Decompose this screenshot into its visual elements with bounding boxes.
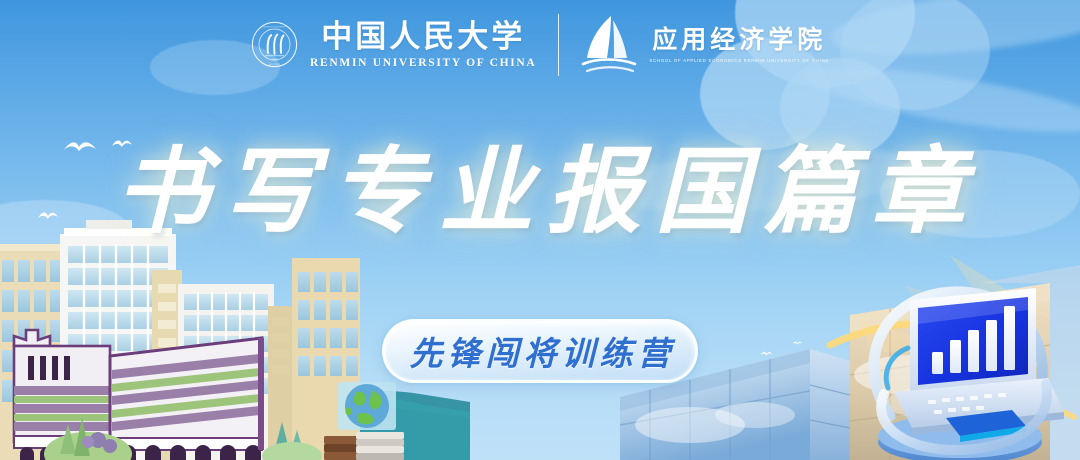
school-name-en: SCHOOL OF APPLIED ECONOMICS RENMIN UNIVE… <box>649 58 829 63</box>
svg-text:1937: 1937 <box>271 58 278 62</box>
page-title: 书写专业报国篇章 <box>0 146 1080 240</box>
globe-on-books-illustration <box>322 378 414 460</box>
ruc-text-block: 中国人民大学 RENMIN UNIVERSITY OF CHINA <box>310 21 536 69</box>
sail-logo-icon <box>581 14 639 76</box>
svg-text:OF CHINA: OF CHINA <box>269 64 281 67</box>
ruc-logo: 1937 RENMIN UNIVERSITY OF CHINA 中国人民大学 R… <box>251 21 536 69</box>
subtitle-pill: 先锋闯将训练营 <box>382 319 698 383</box>
svg-text:RENMIN UNIVERSITY: RENMIN UNIVERSITY <box>262 26 287 29</box>
laptop-with-bar-chart-illustration <box>850 266 1070 460</box>
sae-text-block: 应用经济学院 SCHOOL OF APPLIED ECONOMICS RENMI… <box>649 27 829 63</box>
university-name-cn: 中国人民大学 <box>321 21 525 54</box>
logo-divider <box>558 14 559 76</box>
ruc-main-building-front <box>110 338 264 460</box>
accent-stroke <box>886 348 908 388</box>
banner-root: 1937 RENMIN UNIVERSITY OF CHINA 中国人民大学 R… <box>0 0 1080 460</box>
header-logo-bar: 1937 RENMIN UNIVERSITY OF CHINA 中国人民大学 R… <box>0 14 1080 76</box>
school-name-cn: 应用经济学院 <box>652 27 826 55</box>
sae-logo: 应用经济学院 SCHOOL OF APPLIED ECONOMICS RENMI… <box>581 14 829 76</box>
laptop-screen <box>910 288 1036 394</box>
university-name-en: RENMIN UNIVERSITY OF CHINA <box>310 57 536 69</box>
glass-building-mid <box>810 349 850 460</box>
campus-buildings-illustration <box>0 210 360 460</box>
ruc-seal-icon: 1937 RENMIN UNIVERSITY OF CHINA <box>251 21 298 68</box>
book-stack <box>324 432 404 460</box>
subtitle-pill-label: 先锋闯将训练营 <box>405 327 676 375</box>
